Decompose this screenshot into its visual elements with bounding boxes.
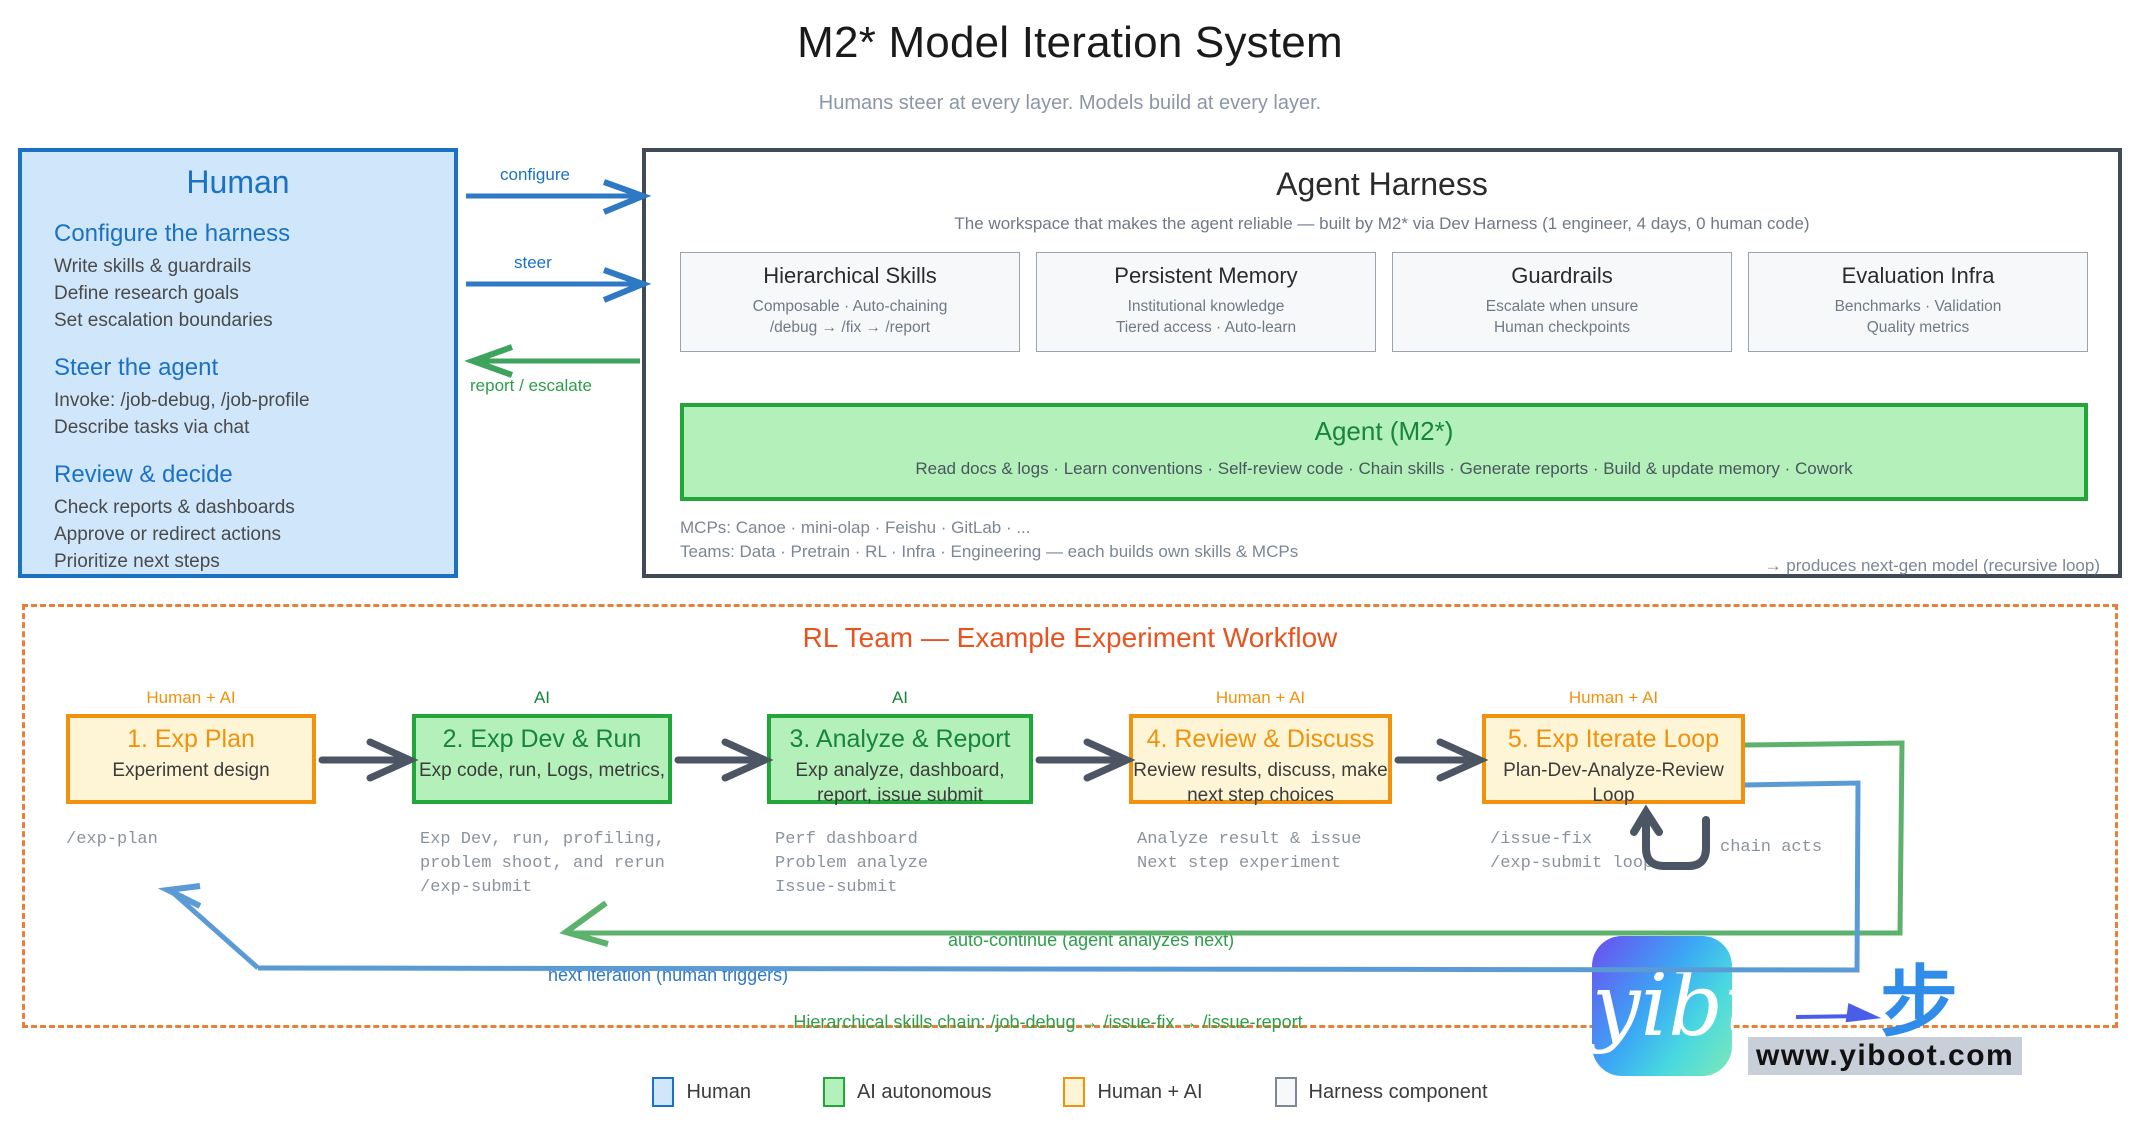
connector-label-configure: configure bbox=[500, 165, 570, 185]
agent-harness-panel: Agent Harness The workspace that makes t… bbox=[642, 148, 2122, 578]
connector-label-steer: steer bbox=[514, 253, 552, 273]
human-group-item: Check reports & dashboards bbox=[54, 495, 434, 522]
skills-chain-label: Hierarchical skills chain: /job-debug → … bbox=[0, 1012, 2096, 1033]
harness-card-line: Tiered access · Auto-learn bbox=[1043, 317, 1369, 338]
teams-line: Teams: Data · Pretrain · RL · Infra · En… bbox=[680, 542, 1298, 562]
human-panel-title: Human bbox=[22, 164, 454, 201]
harness-card-title: Persistent Memory bbox=[1043, 263, 1369, 289]
yibu-logo: yibu bbox=[1592, 936, 1732, 1076]
harness-card-title: Guardrails bbox=[1399, 263, 1725, 289]
harness-subtitle: The workspace that makes the agent relia… bbox=[646, 214, 2118, 234]
workflow-step-title: 3. Analyze & Report bbox=[771, 725, 1029, 754]
workflow-step-5-caption: /issue-fix /exp-submit loop bbox=[1490, 828, 1653, 876]
workflow-step-role: AI bbox=[416, 688, 668, 708]
harness-card-line: Benchmarks · Validation bbox=[1755, 296, 2081, 317]
workflow-step-desc: Plan-Dev-Analyze-Review Loop bbox=[1486, 759, 1741, 808]
workflow-step-role: Human + AI bbox=[1486, 688, 1741, 708]
legend-label: AI autonomous bbox=[857, 1081, 992, 1104]
legend-label: Human + AI bbox=[1097, 1081, 1202, 1104]
legend-item-harness-component: Harness component bbox=[1275, 1077, 1488, 1107]
auto-continue-label: auto-continue (agent analyzes next) bbox=[948, 930, 1234, 951]
workflow-step-role: Human + AI bbox=[1133, 688, 1388, 708]
workflow-step-2[interactable]: AI 2. Exp Dev & Run Exp code, run, Logs,… bbox=[412, 714, 672, 804]
workflow-step-2-caption: Exp Dev, run, profiling, problem shoot, … bbox=[420, 828, 665, 900]
harness-card-line: Escalate when unsure bbox=[1399, 296, 1725, 317]
workflow-step-title: 1. Exp Plan bbox=[70, 725, 312, 754]
legend-label: Human bbox=[686, 1081, 750, 1104]
harness-card-line: Human checkpoints bbox=[1399, 317, 1725, 338]
harness-title: Agent Harness bbox=[646, 166, 2118, 203]
legend-label: Harness component bbox=[1309, 1081, 1488, 1104]
legend-swatch-icon bbox=[652, 1077, 674, 1107]
workflow-step-title: 2. Exp Dev & Run bbox=[416, 725, 668, 754]
legend-item-ai-autonomous: AI autonomous bbox=[823, 1077, 992, 1107]
yibu-logo-text: yibu bbox=[1592, 936, 1732, 1076]
human-panel: Human Configure the harness Write skills… bbox=[18, 148, 458, 578]
human-group-item: Define research goals bbox=[54, 281, 434, 308]
workflow-step-desc: Experiment design bbox=[70, 759, 312, 784]
legend: Human AI autonomous Human + AI Harness c… bbox=[0, 1077, 2140, 1107]
chain-acts-label: chain acts bbox=[1720, 838, 1822, 857]
workflow-step-1-caption: /exp-plan bbox=[66, 828, 158, 852]
workflow-step-3-caption: Perf dashboard Problem analyze Issue-sub… bbox=[775, 828, 928, 900]
human-group-item: Describe tasks via chat bbox=[54, 415, 434, 442]
recursive-loop-note: → produces next-gen model (recursive loo… bbox=[1765, 556, 2100, 576]
human-panel-body: Configure the harness Write skills & gua… bbox=[54, 220, 434, 595]
harness-card-persistent-memory[interactable]: Persistent Memory Institutional knowledg… bbox=[1036, 252, 1376, 352]
human-group-title: Steer the agent bbox=[54, 354, 434, 382]
watermark-url: www.yiboot.com bbox=[1748, 1037, 2022, 1075]
human-group-steer: Steer the agent Invoke: /job-debug, /job… bbox=[54, 354, 434, 442]
workflow-title: RL Team — Example Experiment Workflow bbox=[0, 622, 2140, 654]
workflow-step-4-caption: Analyze result & issue Next step experim… bbox=[1137, 828, 1361, 876]
connector-label-report-escalate: report / escalate bbox=[470, 376, 592, 396]
workflow-step-desc: Exp code, run, Logs, metrics, bbox=[416, 759, 668, 784]
legend-item-human-plus-ai: Human + AI bbox=[1063, 1077, 1202, 1107]
workflow-step-5[interactable]: Human + AI 5. Exp Iterate Loop Plan-Dev-… bbox=[1482, 714, 1745, 804]
workflow-step-3[interactable]: AI 3. Analyze & Report Exp analyze, dash… bbox=[767, 714, 1033, 804]
page-title: M2* Model Iteration System bbox=[0, 18, 2140, 68]
workflow-step-role: Human + AI bbox=[70, 688, 312, 708]
workflow-step-role: AI bbox=[771, 688, 1029, 708]
next-iteration-label: next iteration (human triggers) bbox=[548, 965, 788, 986]
human-group-configure: Configure the harness Write skills & gua… bbox=[54, 220, 434, 335]
human-group-item: Write skills & guardrails bbox=[54, 254, 434, 281]
agent-capabilities: Read docs & logs · Learn conventions · S… bbox=[684, 459, 2084, 479]
human-group-item: Invoke: /job-debug, /job-profile bbox=[54, 388, 434, 415]
legend-item-human: Human bbox=[652, 1077, 750, 1107]
arrow-report-escalate-icon bbox=[473, 347, 640, 375]
workflow-step-desc: Exp analyze, dashboard, report, issue su… bbox=[771, 759, 1029, 808]
human-group-title: Configure the harness bbox=[54, 220, 434, 248]
legend-swatch-icon bbox=[1063, 1077, 1085, 1107]
harness-card-list: Hierarchical Skills Composable · Auto-ch… bbox=[680, 252, 2088, 352]
harness-card-title: Evaluation Infra bbox=[1755, 263, 2081, 289]
agent-title: Agent (M2*) bbox=[684, 416, 2084, 447]
harness-card-evaluation-infra[interactable]: Evaluation Infra Benchmarks · Validation… bbox=[1748, 252, 2088, 352]
legend-swatch-icon bbox=[823, 1077, 845, 1107]
agent-box: Agent (M2*) Read docs & logs · Learn con… bbox=[680, 403, 2088, 501]
harness-card-line: Institutional knowledge bbox=[1043, 296, 1369, 317]
arrow-configure-icon bbox=[466, 182, 643, 212]
harness-card-line: Composable · Auto-chaining bbox=[687, 296, 1013, 317]
mcps-line: MCPs: Canoe · mini-olap · Feishu · GitLa… bbox=[680, 518, 1031, 538]
legend-swatch-icon bbox=[1275, 1077, 1297, 1107]
workflow-step-desc: Review results, discuss, make next step … bbox=[1133, 759, 1388, 808]
harness-card-hierarchical-skills[interactable]: Hierarchical Skills Composable · Auto-ch… bbox=[680, 252, 1020, 352]
arrow-steer-icon bbox=[466, 270, 643, 300]
harness-card-line: /debug → /fix → /report bbox=[687, 317, 1013, 338]
harness-card-line: Quality metrics bbox=[1755, 317, 2081, 338]
harness-card-guardrails[interactable]: Guardrails Escalate when unsure Human ch… bbox=[1392, 252, 1732, 352]
workflow-step-1[interactable]: Human + AI 1. Exp Plan Experiment design bbox=[66, 714, 316, 804]
human-group-title: Review & decide bbox=[54, 461, 434, 489]
workflow-step-title: 5. Exp Iterate Loop bbox=[1486, 725, 1741, 754]
harness-card-title: Hierarchical Skills bbox=[687, 263, 1013, 289]
human-group-review: Review & decide Check reports & dashboar… bbox=[54, 461, 434, 576]
page-subtitle: Humans steer at every layer. Models buil… bbox=[0, 92, 2140, 115]
human-group-item: Set escalation boundaries bbox=[54, 308, 434, 335]
workflow-step-title: 4. Review & Discuss bbox=[1133, 725, 1388, 754]
workflow-step-4[interactable]: Human + AI 4. Review & Discuss Review re… bbox=[1129, 714, 1392, 804]
human-group-item: Prioritize next steps bbox=[54, 549, 434, 576]
human-group-item: Approve or redirect actions bbox=[54, 522, 434, 549]
watermark-cjk-character: 步 bbox=[1880, 940, 1958, 1052]
workflow-section bbox=[22, 604, 2118, 1028]
